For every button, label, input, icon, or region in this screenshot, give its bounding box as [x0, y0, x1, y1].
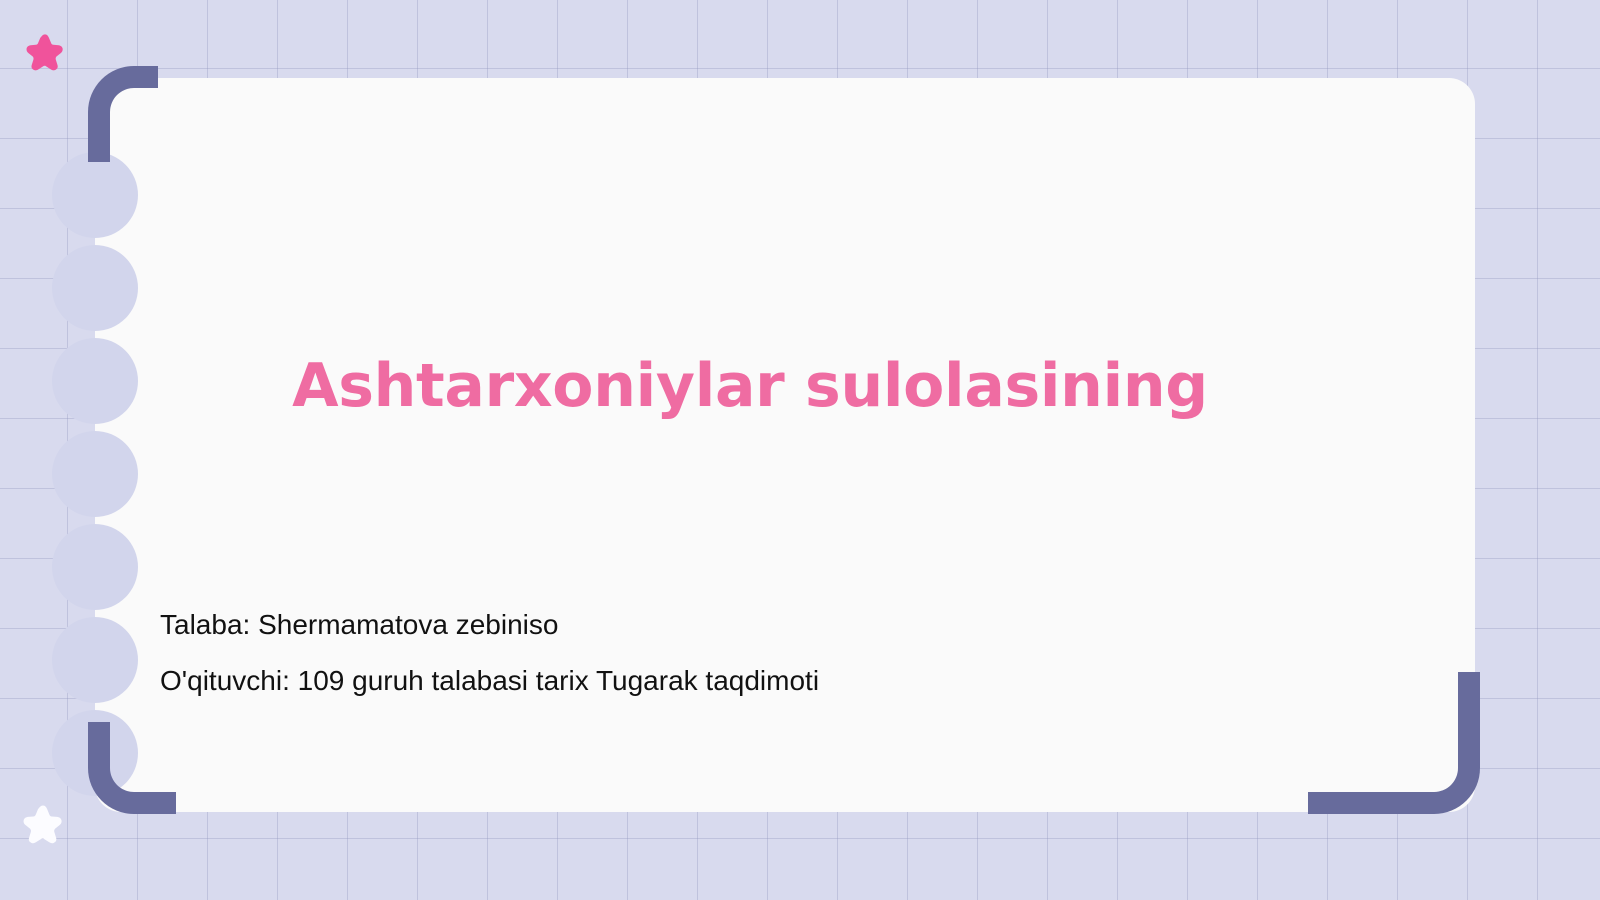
scallop-notch — [52, 152, 138, 238]
scallop-notch — [52, 245, 138, 331]
scallop-notch — [52, 617, 138, 703]
star-top-left-icon — [25, 32, 65, 72]
slide-body-text: Talaba: Shermamatova zebiniso O'qituvchi… — [160, 606, 1320, 700]
scallop-notch — [52, 338, 138, 424]
scallop-notch — [52, 431, 138, 517]
body-line-student: Talaba: Shermamatova zebiniso — [160, 606, 1320, 644]
star-bottom-left-icon — [22, 803, 64, 845]
slide-content-card — [95, 78, 1475, 812]
corner-bracket-bottom-right — [1308, 672, 1480, 814]
slide-stage: Ashtarxoniylar sulolasining Talaba: Sher… — [0, 0, 1600, 900]
corner-bracket-top-left — [88, 66, 158, 162]
body-line-teacher: O'qituvchi: 109 guruh talabasi tarix Tug… — [160, 662, 1320, 700]
corner-bracket-bottom-left — [88, 722, 176, 814]
slide-title: Ashtarxoniylar sulolasining — [160, 352, 1340, 422]
scallop-notch — [52, 524, 138, 610]
